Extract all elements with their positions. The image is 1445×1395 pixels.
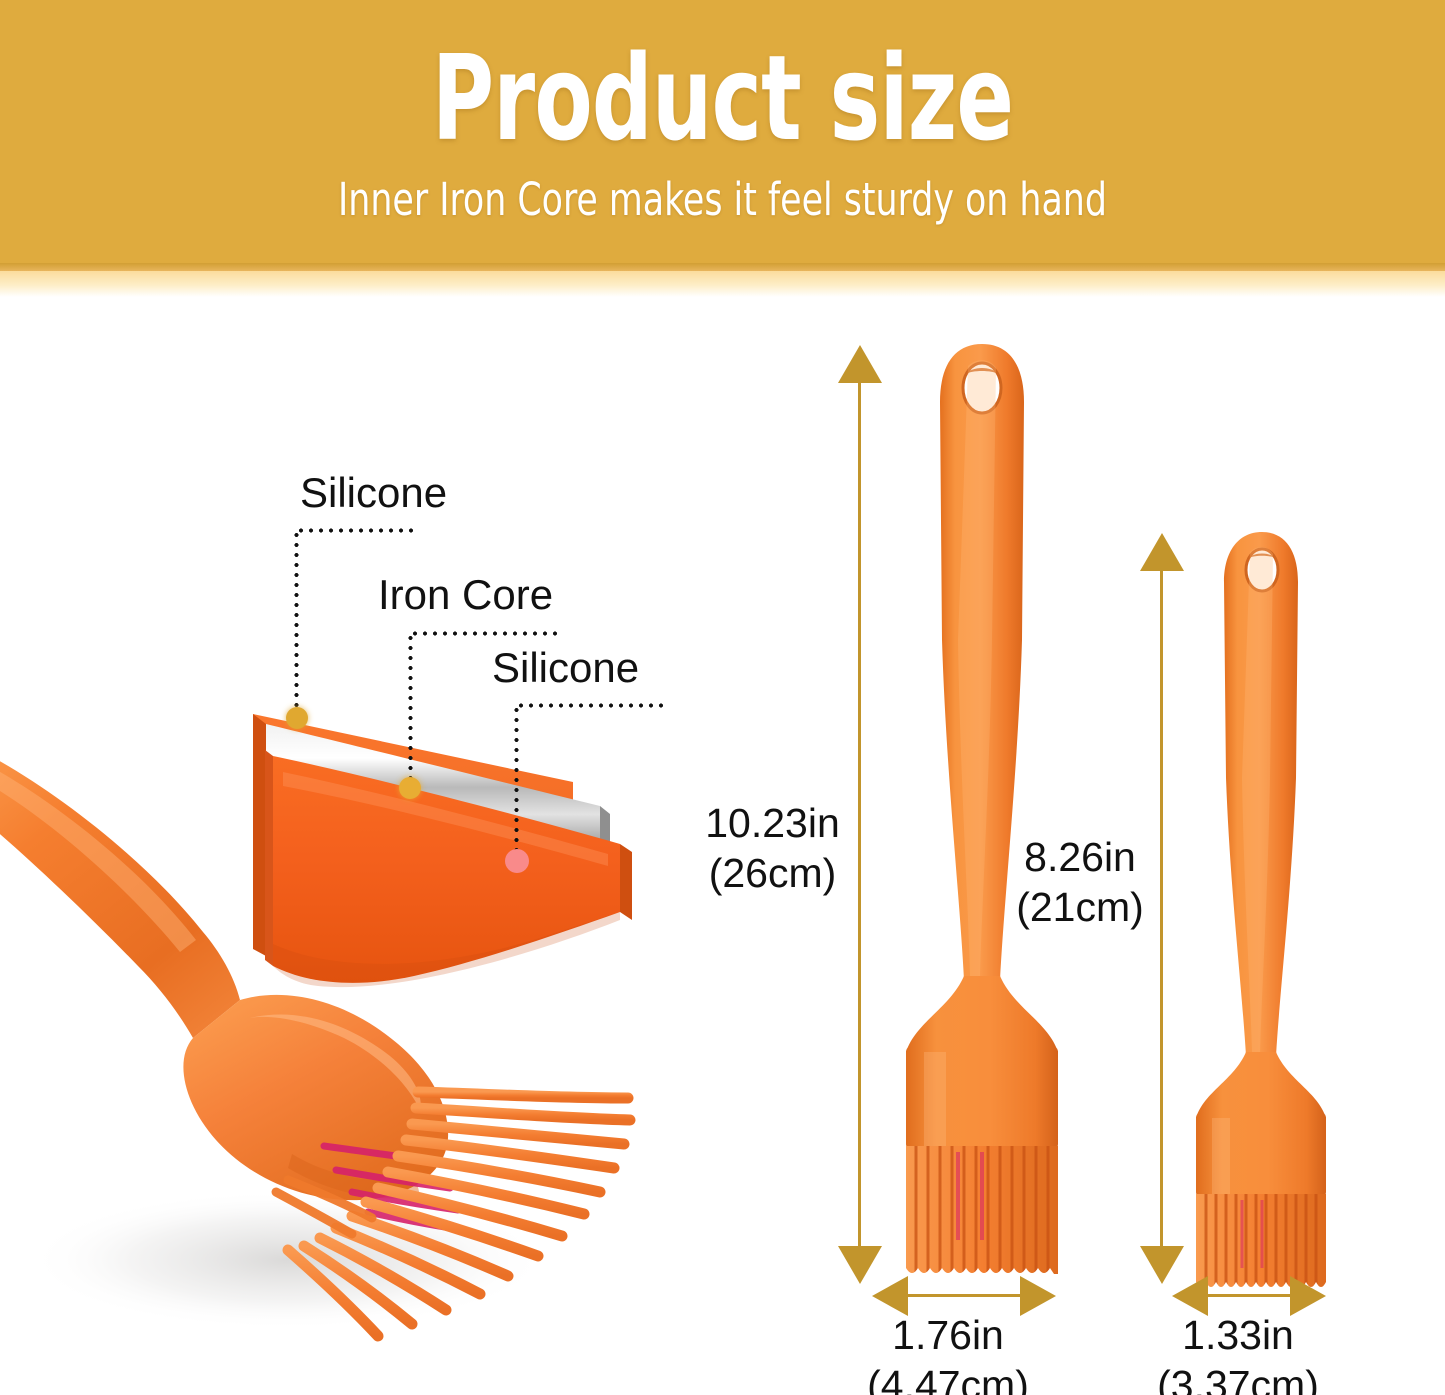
silicone-inner-marker xyxy=(505,849,529,873)
small-brush-width-label: 1.33in (3.37cm) xyxy=(1148,1310,1328,1395)
leader-line-horizontal-silicone-inner xyxy=(516,703,666,708)
large-height-inches: 10.23in xyxy=(690,798,855,848)
large-brush-illustration xyxy=(872,340,1092,1280)
leader-line-vertical-silicone-outer xyxy=(294,530,299,714)
leader-line-vertical-iron-core xyxy=(408,633,413,785)
header-glow-strip xyxy=(0,271,1445,297)
large-width-cm: (4.47cm) xyxy=(858,1360,1038,1395)
leader-line-horizontal-iron-core xyxy=(410,631,558,636)
page-subtitle: Inner Iron Core makes it feel sturdy on … xyxy=(101,176,1344,224)
large-height-arrowhead-top xyxy=(838,345,882,383)
leader-line-vertical-silicone-inner xyxy=(514,705,519,857)
small-width-cm: (3.37cm) xyxy=(1148,1360,1328,1395)
small-height-arrowhead-top xyxy=(1140,533,1184,571)
product-size-infographic: Product size Inner Iron Core makes it fe… xyxy=(0,0,1445,1395)
small-height-dimension-line xyxy=(1160,568,1163,1252)
silicone-outer-marker xyxy=(286,707,308,729)
leader-line-horizontal-silicone-outer xyxy=(296,528,418,533)
callout-label-iron-core: Iron Core xyxy=(378,572,553,618)
small-width-inches: 1.33in xyxy=(1148,1310,1328,1360)
large-brush-height-label: 10.23in (26cm) xyxy=(690,798,855,898)
cross-section-diagram xyxy=(228,694,668,1024)
large-width-inches: 1.76in xyxy=(858,1310,1038,1360)
callout-label-silicone-outer: Silicone xyxy=(300,470,447,516)
large-height-cm: (26cm) xyxy=(690,848,855,898)
iron-core-marker xyxy=(399,777,421,799)
page-title: Product size xyxy=(145,38,1301,158)
small-width-dimension-line xyxy=(1205,1294,1293,1297)
small-brush-illustration xyxy=(1172,528,1352,1298)
callout-label-silicone-inner: Silicone xyxy=(492,645,639,691)
header-underline xyxy=(0,263,1445,271)
large-brush-width-label: 1.76in (4.47cm) xyxy=(858,1310,1038,1395)
small-height-cm: (21cm) xyxy=(1000,882,1160,932)
large-width-dimension-line xyxy=(905,1294,1023,1297)
small-brush-height-label: 8.26in (21cm) xyxy=(1000,832,1160,932)
large-height-dimension-line xyxy=(858,380,861,1252)
small-height-inches: 8.26in xyxy=(1000,832,1160,882)
